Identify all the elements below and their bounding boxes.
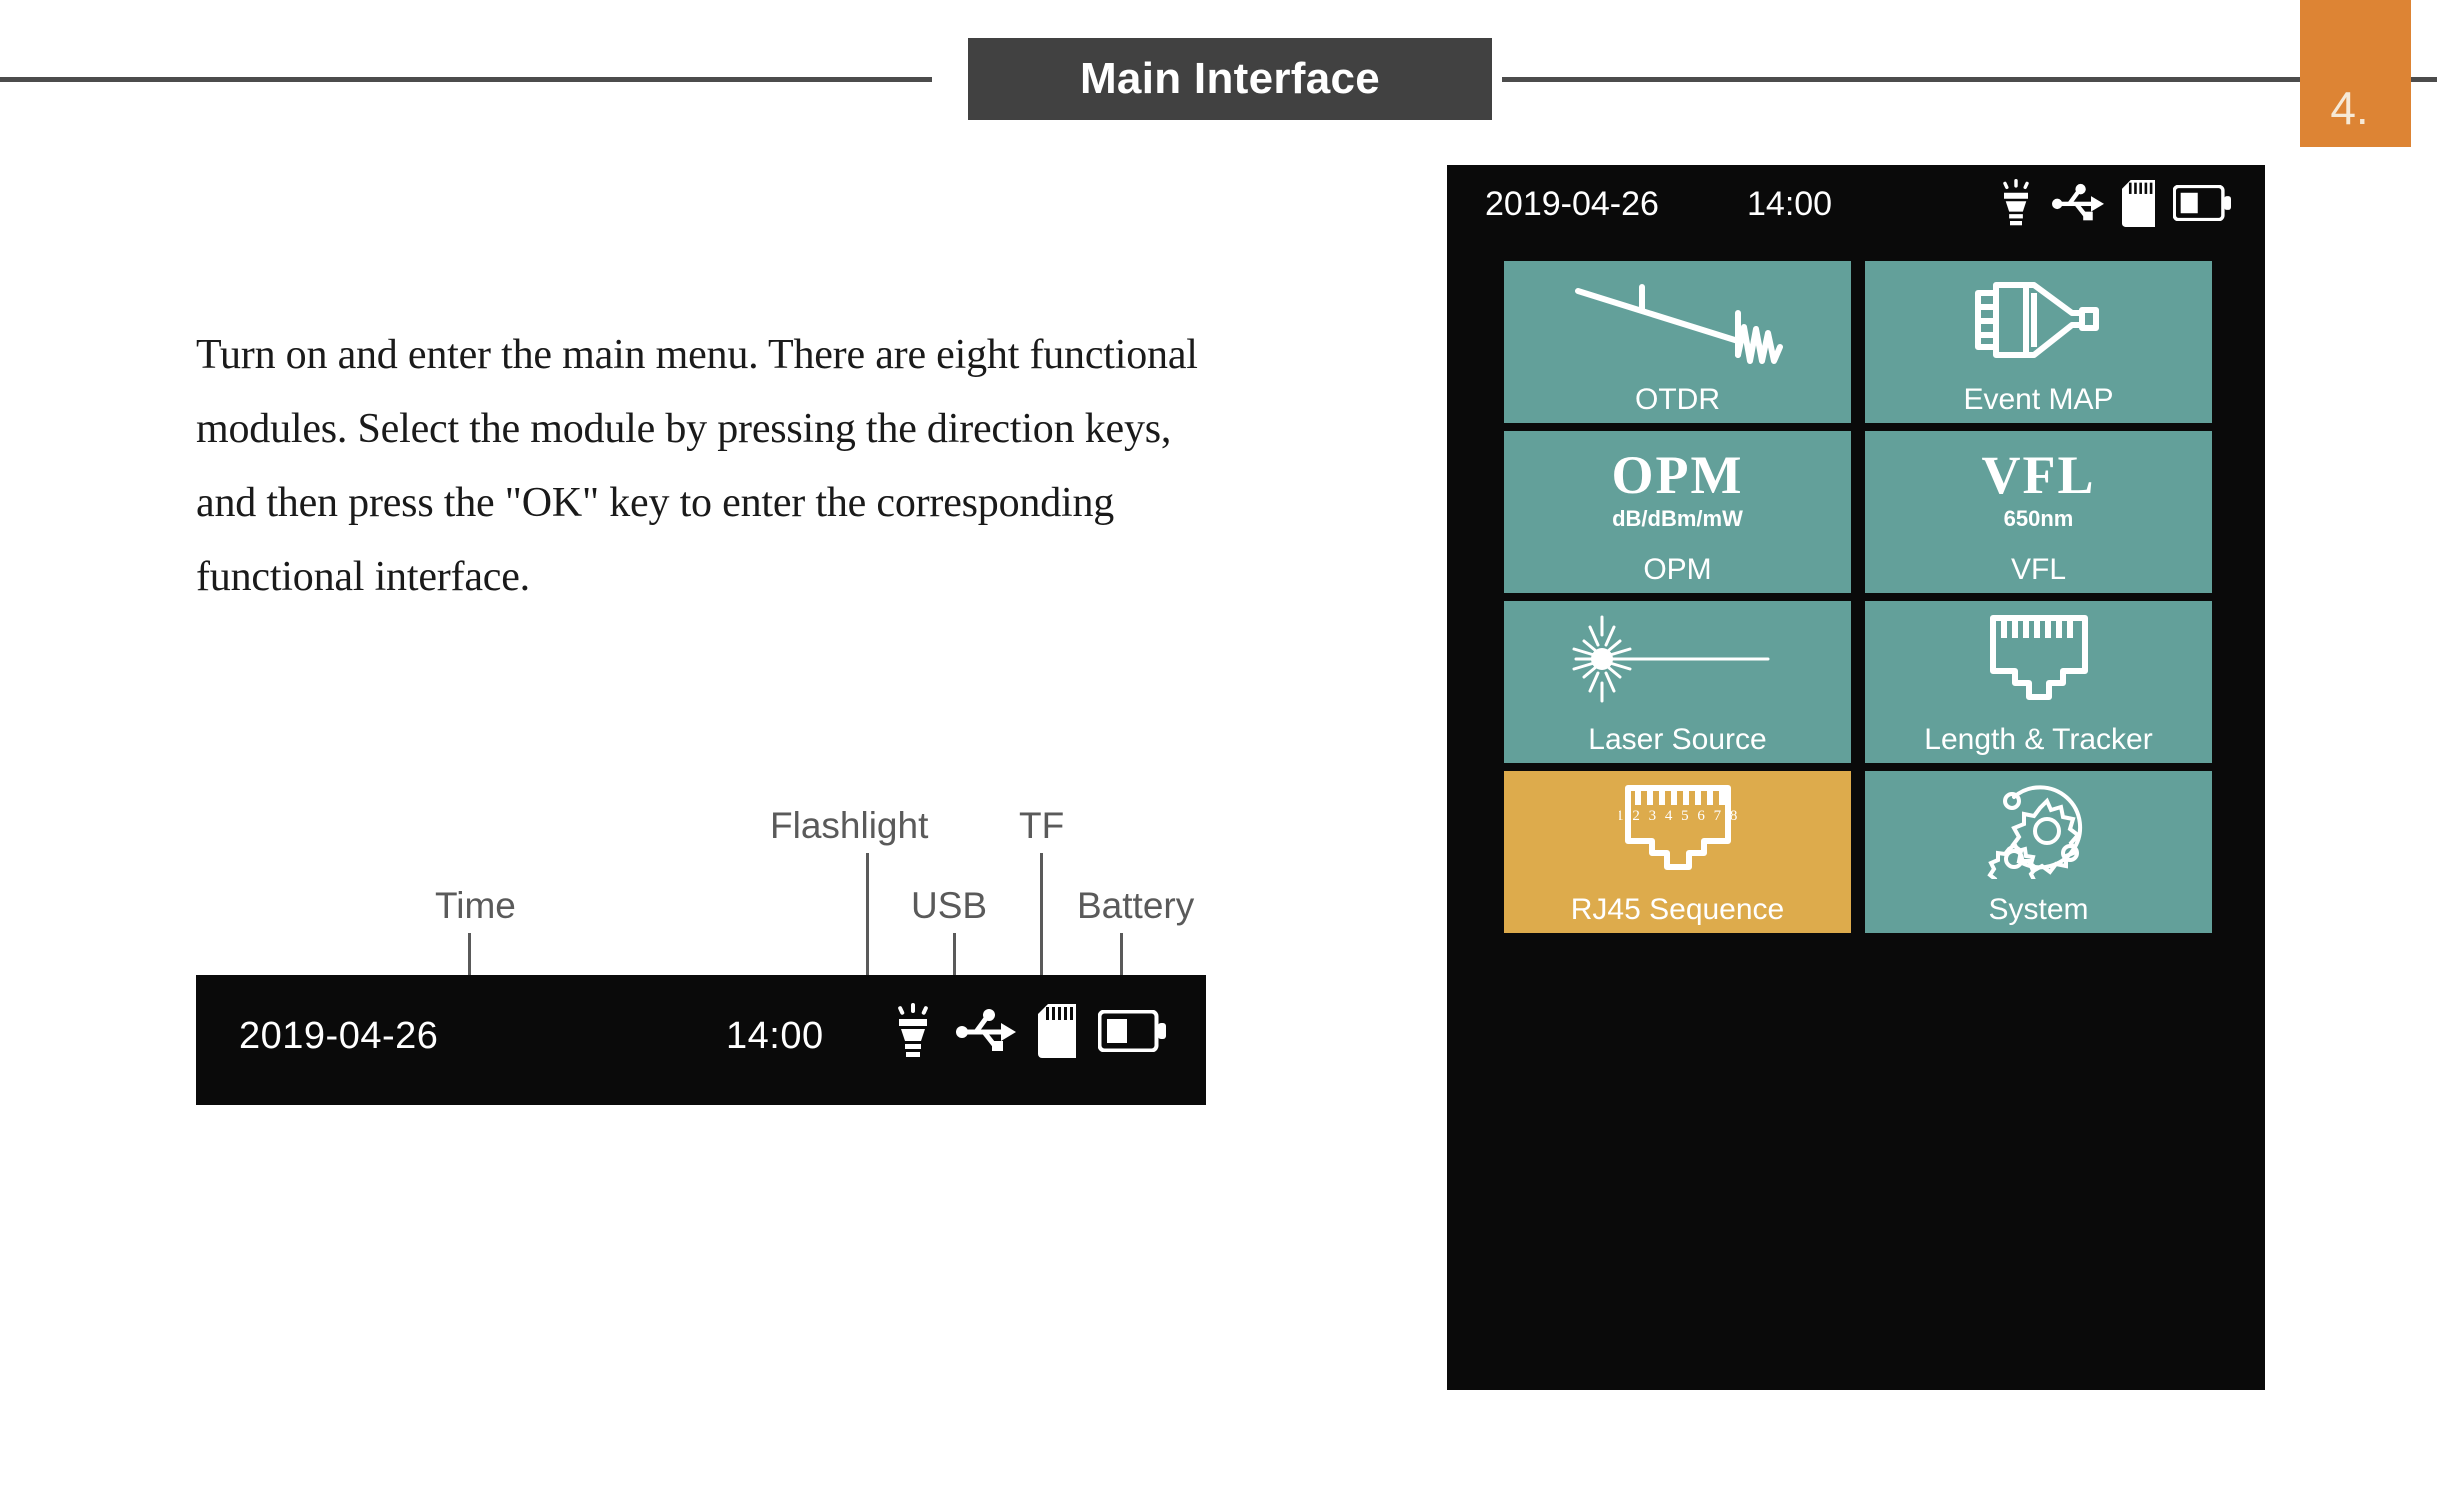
statusbar-sample: 2019-04-26 14:00 (196, 975, 1206, 1105)
statusbar-annotation-diagram: Time Flashlight USB TF Battery 2019-04-2… (0, 0, 1300, 1500)
leader-line-battery (1120, 933, 1123, 975)
tile-rj45-sequence[interactable]: 1 2 3 4 5 6 7 8 RJ45 Sequence (1504, 771, 1851, 933)
tf-card-icon (2122, 180, 2155, 227)
flashlight-icon (1998, 179, 2034, 227)
tile-system[interactable]: System (1865, 771, 2212, 933)
tile-event-map[interactable]: Event MAP (1865, 261, 2212, 423)
tile-caption: Length & Tracker (1924, 725, 2152, 755)
vfl-text-icon: VFL 650nm (1865, 435, 2212, 543)
tile-caption: Laser Source (1588, 725, 1766, 755)
vfl-big-label: VFL (1982, 448, 2096, 502)
rj45-sequence-icon: 1 2 3 4 5 6 7 8 (1504, 775, 1851, 883)
event-map-icon (1865, 265, 2212, 373)
statusbar-sample-time: 14:00 (726, 1015, 824, 1058)
statusbar-sample-icons (892, 1003, 1166, 1059)
flashlight-icon (892, 1003, 934, 1059)
battery-icon (2173, 185, 2231, 221)
otdr-trace-icon (1504, 265, 1851, 373)
battery-icon (1098, 1010, 1166, 1052)
tile-length-tracker[interactable]: Length & Tracker (1865, 601, 2212, 763)
tile-caption: Event MAP (1963, 385, 2113, 415)
header-rule-far-right (2411, 77, 2437, 82)
module-grid: OTDR Event MAP (1504, 261, 2212, 933)
device-status-date: 2019-04-26 (1485, 185, 1659, 224)
opm-units-label: dB/dBm/mW (1612, 508, 1744, 530)
label-usb: USB (911, 885, 987, 927)
usb-icon (956, 1008, 1016, 1054)
leader-line-usb (953, 933, 956, 975)
tile-laser-source[interactable]: Laser Source (1504, 601, 1851, 763)
page-number-badge: 4. (2300, 0, 2411, 147)
label-tf: TF (1019, 805, 1064, 847)
vfl-wavelength-label: 650nm (1982, 508, 2096, 530)
label-battery: Battery (1077, 885, 1194, 927)
device-screen: 2019-04-26 14:00 (1447, 165, 2265, 1390)
tile-caption: VFL (2011, 555, 2066, 585)
tile-vfl[interactable]: VFL 650nm VFL (1865, 431, 2212, 593)
tile-caption: OPM (1643, 555, 1711, 585)
tile-caption: RJ45 Sequence (1571, 895, 1785, 925)
statusbar-sample-date: 2019-04-26 (239, 1015, 438, 1058)
tile-otdr[interactable]: OTDR (1504, 261, 1851, 423)
tile-opm[interactable]: OPM dB/dBm/mW OPM (1504, 431, 1851, 593)
laser-source-icon (1504, 605, 1851, 713)
header-rule-right (1502, 77, 2302, 82)
opm-big-label: OPM (1612, 448, 1744, 502)
device-status-bar: 2019-04-26 14:00 (1447, 165, 2265, 243)
slide-page: Main Interface 4. Turn on and enter the … (0, 0, 2446, 1500)
opm-text-icon: OPM dB/dBm/mW (1504, 435, 1851, 543)
page-number-text: 4. (2300, 81, 2399, 135)
leader-line-time (468, 933, 471, 975)
tile-caption: System (1988, 895, 2088, 925)
tf-card-icon (1038, 1004, 1076, 1058)
leader-line-flashlight (866, 853, 869, 975)
label-flashlight: Flashlight (770, 805, 928, 847)
usb-icon (2052, 183, 2104, 223)
gears-settings-icon (1865, 775, 2212, 883)
rj45-port-icon (1865, 605, 2212, 713)
tile-caption: OTDR (1635, 385, 1720, 415)
device-status-time: 14:00 (1747, 185, 1832, 224)
device-status-icons (1998, 179, 2231, 227)
rj45-pin-numbers: 1 2 3 4 5 6 7 8 (1619, 808, 1737, 824)
leader-line-tf (1040, 853, 1043, 975)
label-time: Time (435, 885, 516, 927)
